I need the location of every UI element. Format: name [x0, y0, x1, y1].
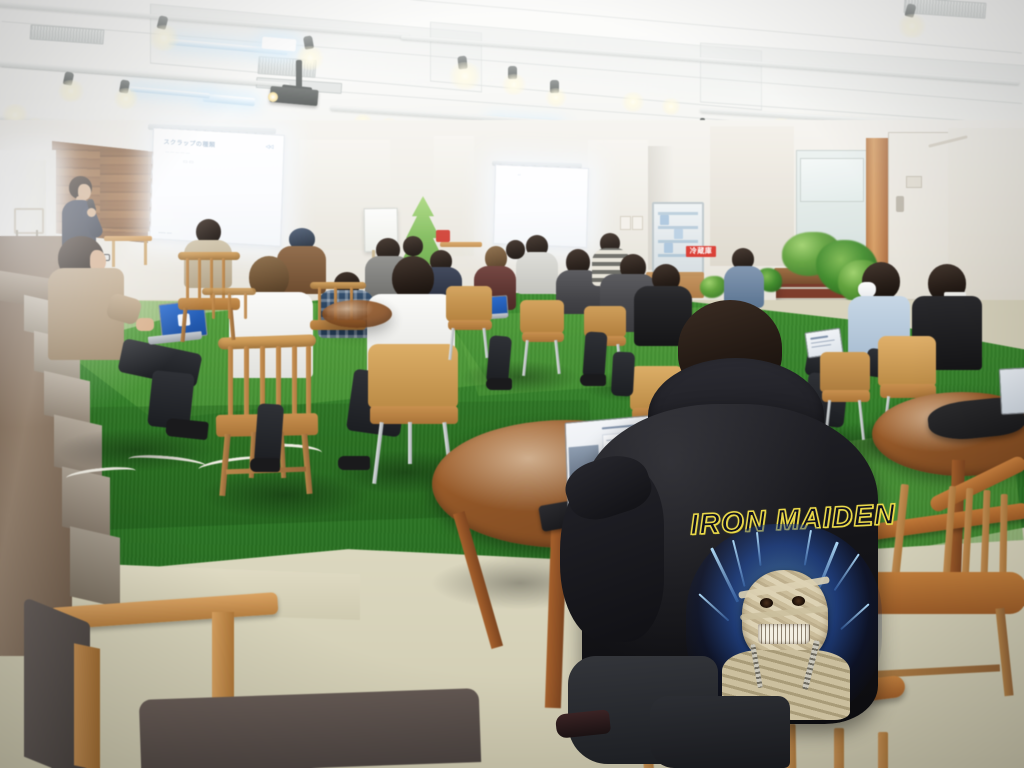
spotlight-glow	[620, 92, 646, 112]
wooden-bench-foreground[interactable]	[30, 586, 450, 768]
photo-scene: スクラップの種類 — — — — — ▭ ▭ ◁◁ ▪▪▪▪▪▪ ▪▪▪▪ ▫▫…	[0, 0, 1024, 768]
slide-logo: ◁◁	[266, 144, 274, 150]
laptop-right[interactable]	[999, 367, 1024, 415]
lightning-bolt	[804, 530, 812, 566]
chair-spindle	[186, 258, 189, 300]
lightning-bolt	[710, 547, 739, 602]
plywood-chair[interactable]	[446, 286, 494, 362]
chair-spindle	[292, 346, 297, 418]
chair-spindle	[212, 293, 215, 319]
bench-frame	[74, 643, 100, 768]
hoodie-leg	[650, 696, 790, 768]
audience-shoe	[338, 456, 370, 470]
back-table-leg	[112, 241, 115, 267]
slide-subtitle: ▭ ▭	[183, 159, 194, 166]
audience-shoe	[486, 378, 512, 390]
lightning-bolt	[834, 553, 860, 591]
light-switch-plate[interactable]	[620, 216, 631, 230]
lightning-bolt	[756, 532, 762, 566]
chair-spindle	[306, 346, 311, 414]
audience-head	[403, 236, 423, 256]
wooden-chair[interactable]	[202, 288, 258, 336]
slide-logo: ▫▫	[518, 172, 521, 177]
back-table	[440, 242, 482, 247]
chair-spindle	[244, 293, 247, 319]
projector-lens	[268, 92, 278, 102]
chair-backrest	[368, 344, 458, 408]
mummy-eye	[792, 596, 805, 606]
spotlight-glow	[500, 74, 528, 95]
chair-leg	[522, 340, 529, 376]
lightning-bolt	[732, 540, 746, 587]
presenter-hand	[87, 208, 96, 217]
spotlight-glow	[147, 25, 181, 51]
slide-subtitle: — — — — —	[165, 149, 190, 155]
spotlight-glow	[447, 62, 483, 90]
door-handle[interactable]	[896, 196, 904, 212]
chair-leg	[181, 308, 188, 342]
far-chair	[14, 208, 44, 234]
mummy-eye	[760, 598, 773, 608]
chair-spindle	[228, 346, 233, 416]
chair-leg	[995, 608, 1013, 696]
slide-footer: ▪▪▪▪▪▪ ▪▪▪▪	[158, 231, 172, 236]
light-switch-plate[interactable]	[632, 216, 643, 230]
wall-section	[710, 126, 794, 266]
back-table-leg	[144, 241, 147, 265]
red-prop	[436, 230, 450, 242]
chair-leg	[448, 328, 454, 360]
chair-spindle	[228, 293, 231, 319]
chair-spindle	[962, 488, 974, 580]
chair-spindle	[980, 490, 990, 580]
chair-leg	[372, 422, 384, 484]
chair-backrest	[446, 286, 492, 322]
chair-spindle	[999, 494, 1008, 582]
chair-backrest	[878, 336, 936, 386]
chair-leg	[301, 434, 312, 494]
spotlight-glow	[544, 88, 568, 107]
spotlight-glow	[660, 98, 682, 115]
audience-shoe	[250, 458, 280, 472]
audience-hand	[136, 318, 154, 331]
audience-torso	[516, 252, 558, 294]
spotlight-glow	[112, 88, 140, 109]
fridge-sign: 冷蔵庫	[686, 246, 716, 257]
spotlight-glow	[896, 14, 928, 38]
chair-leg	[408, 422, 412, 464]
lightning-bolt	[840, 603, 870, 630]
mummy-teeth	[758, 624, 810, 644]
chair-spindle	[318, 287, 321, 321]
lightning-bolt	[698, 593, 729, 621]
door-sign	[906, 176, 922, 188]
audience-leg	[254, 403, 284, 465]
chair-leg	[219, 434, 230, 496]
spotlight-glow	[56, 80, 86, 102]
man-in-iron-maiden-hoodie: IRON MAIDEN	[540, 296, 880, 768]
bench-cushion	[139, 688, 481, 768]
glass-partition	[800, 158, 864, 202]
audience-head	[506, 240, 525, 259]
slide-title: スクラップの種類	[163, 137, 215, 149]
chair-spindle	[198, 258, 201, 302]
round-table-back	[322, 300, 392, 328]
chair-spindle	[244, 346, 249, 418]
